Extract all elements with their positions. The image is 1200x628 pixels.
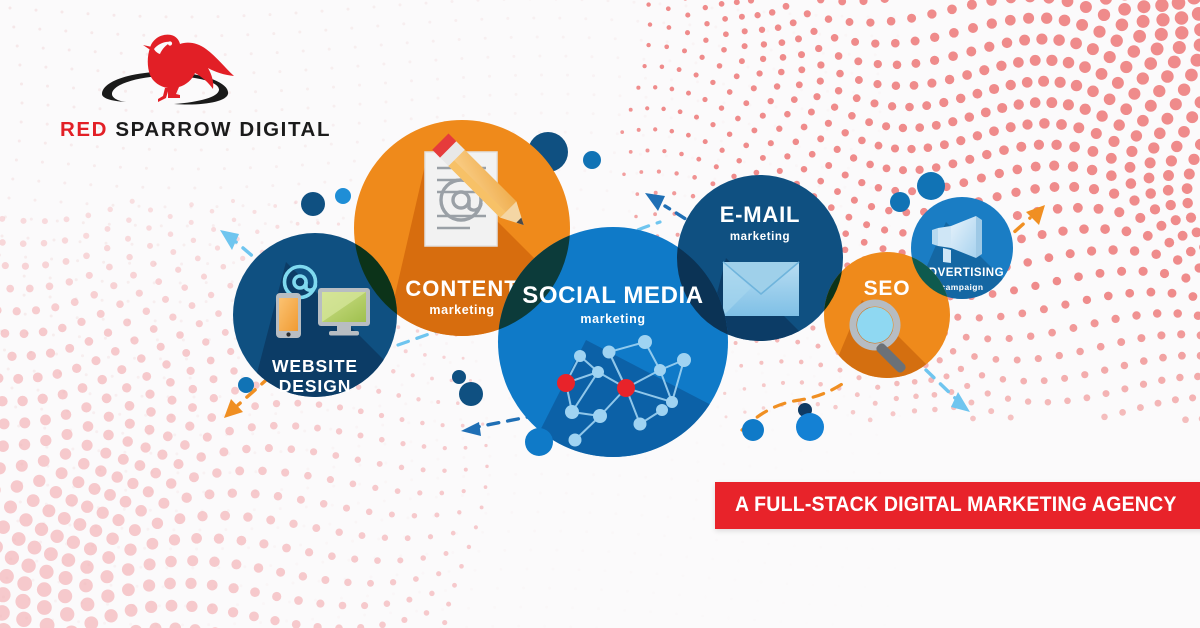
network-node-highlight-2 — [557, 374, 575, 392]
bubble-title2-website: DESIGN — [279, 376, 352, 396]
services-bubble-graphic: CONTENT marketing — [0, 0, 1200, 628]
bubble-title-website: WEBSITE — [272, 356, 358, 376]
bubble-subtitle-content: marketing — [429, 303, 494, 317]
bubble-subtitle-advertising: campaign — [941, 282, 984, 292]
dashed-arrow-left-navy — [461, 415, 538, 436]
bubble-title-content: CONTENT — [405, 276, 518, 301]
tagline-text: A FULL-STACK DIGITAL MARKETING AGENCY — [735, 493, 1177, 517]
dashed-arrow-down-right-blue — [926, 370, 970, 412]
envelope-icon — [723, 262, 799, 316]
poster-canvas: RED SPARROW DIGITAL — [0, 0, 1200, 628]
bubble-title-seo: SEO — [864, 277, 911, 300]
bubble-title-email: E-MAIL — [720, 202, 801, 227]
bubble-subtitle-email: marketing — [730, 231, 790, 243]
bubble-subtitle-social: marketing — [580, 312, 645, 326]
bubble-title-social: SOCIAL MEDIA — [522, 282, 703, 309]
tagline-banner: A FULL-STACK DIGITAL MARKETING AGENCY — [715, 482, 1200, 529]
network-node-highlight — [617, 379, 635, 397]
